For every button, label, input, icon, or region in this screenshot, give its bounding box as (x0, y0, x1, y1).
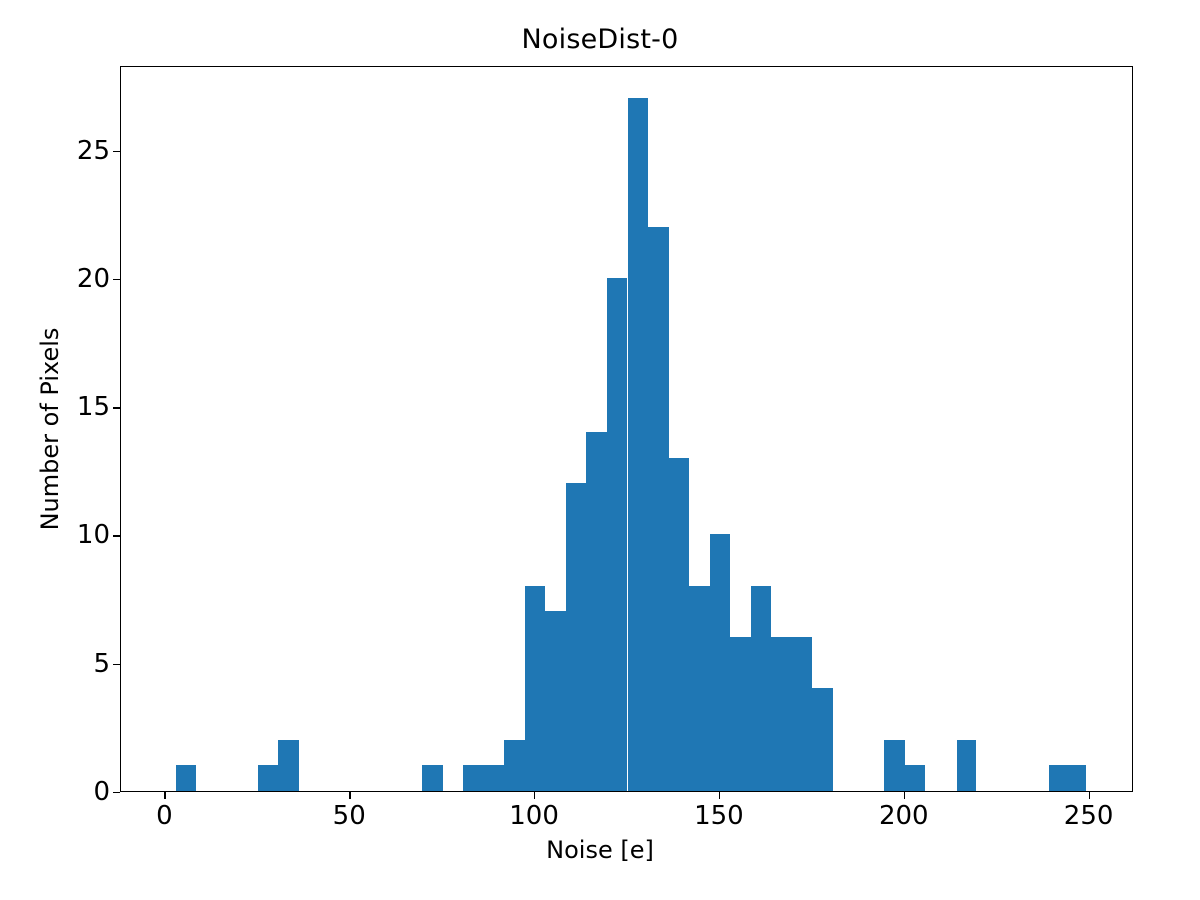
y-tick-label: 10 (77, 520, 110, 550)
histogram-bar (484, 765, 505, 791)
y-tick-label: 20 (77, 264, 110, 294)
x-tick-label: 250 (1064, 801, 1114, 831)
y-tick-label: 5 (93, 649, 110, 679)
histogram-bar (812, 688, 833, 791)
histogram-bar (258, 765, 279, 791)
y-tick-mark (113, 792, 120, 793)
histogram-bar (884, 740, 905, 791)
histogram-bar (566, 483, 587, 791)
x-tick-label: 150 (694, 801, 744, 831)
y-tick-mark (113, 664, 120, 665)
histogram-bar (463, 765, 483, 791)
chart-title: NoiseDist-0 (0, 26, 1200, 53)
y-axis-label: Number of Pixels (30, 66, 70, 792)
histogram-bar (586, 432, 606, 791)
y-tick-mark (113, 407, 120, 408)
x-tick-mark (719, 792, 720, 799)
y-tick-mark (113, 279, 120, 280)
x-tick-mark (1089, 792, 1090, 799)
x-axis-label: Noise [e] (0, 836, 1200, 864)
histogram-bars (121, 67, 1132, 791)
histogram-bar (278, 740, 298, 791)
y-tick-label: 0 (93, 777, 110, 807)
plot-axes (120, 66, 1133, 792)
x-tick-label: 0 (156, 801, 173, 831)
y-tick-label: 15 (77, 392, 110, 422)
histogram-bar (648, 227, 668, 791)
histogram-bar (669, 458, 690, 791)
histogram-bar (771, 637, 791, 791)
histogram-bar (957, 740, 977, 791)
histogram-bar (525, 586, 546, 791)
x-tick-mark (164, 792, 165, 799)
histogram-bar (504, 740, 524, 791)
histogram-bar (176, 765, 196, 791)
x-tick-mark (534, 792, 535, 799)
y-tick-label: 25 (77, 136, 110, 166)
histogram-bar (689, 586, 709, 791)
figure-canvas: NoiseDist-0 050100150200250 0510152025 N… (0, 0, 1200, 900)
x-tick-label: 100 (509, 801, 559, 831)
x-tick-mark (904, 792, 905, 799)
histogram-bar (1049, 765, 1086, 791)
histogram-bar (792, 637, 813, 791)
histogram-bar (628, 98, 649, 791)
histogram-bar (545, 611, 565, 791)
histogram-bar (730, 637, 750, 791)
histogram-bar (710, 534, 731, 791)
histogram-bar (751, 586, 772, 791)
histogram-bar (422, 765, 443, 791)
y-tick-mark (113, 151, 120, 152)
x-tick-label: 50 (333, 801, 366, 831)
x-tick-label: 200 (879, 801, 929, 831)
y-tick-mark (113, 535, 120, 536)
histogram-bar (905, 765, 926, 791)
x-tick-mark (349, 792, 350, 799)
histogram-bar (607, 278, 628, 791)
